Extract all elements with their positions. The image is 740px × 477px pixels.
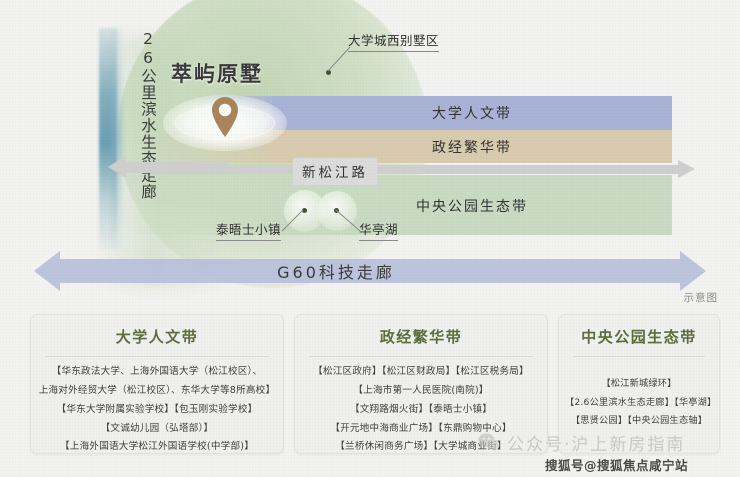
list-item: 【上海市第一人民医院(南院)】 bbox=[301, 384, 541, 399]
list-item: 【开元地中海商业广场】【东鼎购物中心】 bbox=[301, 422, 541, 437]
callout-huating-lake: 华亭湖 bbox=[359, 219, 398, 241]
callout-thames-town: 泰晤士小镇 bbox=[216, 219, 281, 241]
list-item: 【文翔路烟火街】【泰晤士小镇】 bbox=[301, 403, 541, 418]
band-university-label: 大学人文带 bbox=[432, 103, 512, 123]
villa-district-dot bbox=[326, 70, 331, 75]
list-item: 【文诚幼儿园（弘塔部）】 bbox=[37, 422, 277, 437]
wechat-icon bbox=[478, 432, 500, 452]
schematic-note: 示意图 bbox=[684, 290, 719, 305]
card-title-park: 中央公园生态带 bbox=[559, 315, 719, 356]
card-economy-prosperity-belt[interactable]: 政经繁华带 【松江区政府】【松江区财政局】【松江区税务局】 【上海市第一人民医院… bbox=[294, 314, 548, 454]
callout-villa-district: 大学城西别墅区 bbox=[348, 30, 439, 52]
card-items-park: 【松江新城绿环】 【2.6公里滨水生态走廊】【华亭湖】 【思贤公园】【中央公园生… bbox=[559, 357, 719, 429]
list-item: 【松江新城绿环】 bbox=[565, 377, 713, 392]
card-items-university: 【华东政法大学、上海外国语大学（松江校区）、 上海对外经贸大学（松江校区）、东华… bbox=[31, 357, 283, 455]
list-item: 【兰桥休闲商务广场】【大学城商业街】 bbox=[301, 440, 541, 455]
g60-corridor-label: G60科技走廊 bbox=[0, 249, 672, 293]
card-items-economy: 【松江区政府】【松江区财政局】【松江区税务局】 【上海市第一人民医院(南院)】 … bbox=[295, 357, 547, 455]
list-item: 【2.6公里滨水生态走廊】【华亭湖】 bbox=[565, 396, 713, 411]
map-pin-icon bbox=[208, 96, 242, 138]
huating-lake-dot bbox=[334, 208, 339, 213]
band-park-label: 中央公园生态带 bbox=[416, 196, 528, 216]
card-title-economy: 政经繁华带 bbox=[295, 315, 547, 356]
project-name: 萃屿原墅 bbox=[171, 58, 263, 88]
belt-cards: 大学人文带 【华东政法大学、上海外国语大学（松江校区）、 上海对外经贸大学（松江… bbox=[0, 314, 740, 464]
list-item: 【上海外国语大学松江外国语学校(中学部)】 bbox=[37, 440, 277, 455]
infographic-root: 大学人文带 政经繁华带 中央公园生态带 26公里滨水生态走廊 新松江路 萃屿原墅 bbox=[0, 0, 740, 477]
list-item: 上海对外经贸大学（松江校区）、东华大学等8所高校】 bbox=[37, 384, 277, 399]
list-item: 【松江区政府】【松江区财政局】【松江区税务局】 bbox=[301, 365, 541, 380]
map-diagram: 大学人文带 政经繁华带 中央公园生态带 26公里滨水生态走廊 新松江路 萃屿原墅 bbox=[0, 0, 740, 310]
list-item: 【思贤公园】【中央公园生态轴】 bbox=[565, 414, 713, 429]
list-item: 【华东政法大学、上海外国语大学（松江校区）、 bbox=[37, 365, 277, 380]
card-title-university: 大学人文带 bbox=[31, 315, 283, 356]
card-central-park-eco-belt[interactable]: 中央公园生态带 【松江新城绿环】 【2.6公里滨水生态走廊】【华亭湖】 【思贤公… bbox=[558, 314, 720, 454]
band-economy-label: 政经繁华带 bbox=[432, 137, 512, 157]
road-line bbox=[150, 160, 695, 178]
card-university-culture-belt[interactable]: 大学人文带 【华东政法大学、上海外国语大学（松江校区）、 上海对外经贸大学（松江… bbox=[30, 314, 284, 454]
list-item: 【华东大学附属实验学校】【包玉刚实验学校】 bbox=[37, 403, 277, 418]
band-university-culture: 大学人文带 bbox=[272, 96, 672, 130]
road-label-xinsongjiang: 新松江路 bbox=[293, 158, 377, 185]
waterfront-strip-highlight bbox=[112, 28, 122, 250]
thames-town-dot bbox=[302, 208, 307, 213]
